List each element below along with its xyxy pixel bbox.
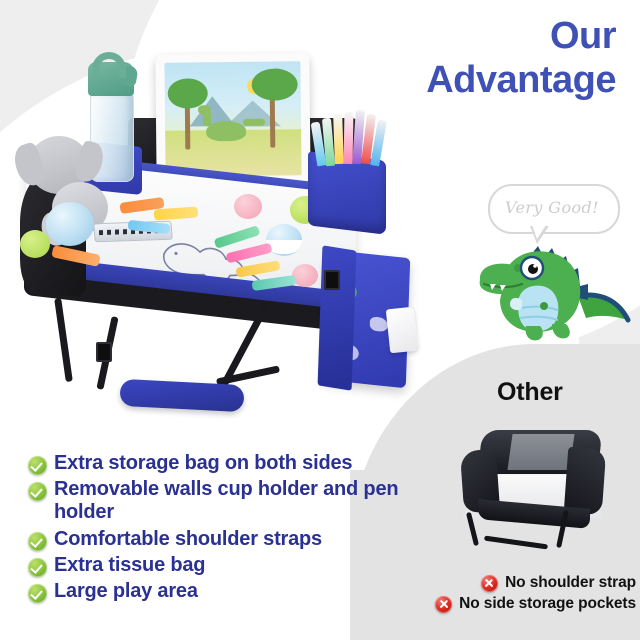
list-item: No shoulder strap (408, 574, 636, 592)
title-line-1: Our (426, 14, 616, 58)
toy-spiky-green (20, 230, 50, 258)
list-item: Extra tissue bag (28, 554, 400, 577)
red-x-icon (481, 575, 498, 592)
artwork-trunk-right (269, 96, 275, 148)
side-bag-flap (318, 245, 357, 390)
toy-ball-blue (46, 202, 94, 246)
green-check-icon (28, 482, 47, 501)
green-check-icon (28, 558, 47, 577)
advantage-label: Extra tissue bag (54, 554, 205, 577)
advantage-label: Removable walls cup holder and pen holde… (54, 478, 400, 524)
other-product-photo (448, 424, 624, 564)
artwork-dino-head (197, 106, 210, 115)
other-section-title: Other (497, 378, 563, 407)
drawback-label: No side storage pockets (459, 595, 636, 613)
other-tray-inner-panel (507, 434, 574, 470)
infographic-canvas: Our Advantage (0, 0, 640, 640)
green-check-icon (28, 584, 47, 603)
list-item: Extra storage bag on both sides (28, 452, 400, 475)
dinosaur-mascot: Very Good! (474, 182, 640, 342)
list-item: Removable walls cup holder and pen holde… (28, 478, 400, 524)
tablet-screen (164, 61, 301, 176)
green-check-icon (28, 456, 47, 475)
title-line-2: Advantage (426, 58, 616, 102)
pen-3 (333, 114, 344, 164)
list-item: Large play area (28, 580, 400, 603)
green-check-icon (28, 532, 47, 551)
list-item: No side storage pockets (408, 595, 636, 613)
advantage-label: Large play area (54, 580, 198, 603)
product-photo-main (8, 26, 428, 426)
toy-pig-pink-2 (292, 264, 318, 287)
tablet-device (155, 53, 310, 185)
strap-bottom-right (216, 365, 280, 385)
artwork-dino-tail (243, 119, 265, 126)
other-tray-right-rim (564, 447, 607, 515)
toy-pig-pink (234, 194, 262, 219)
strap-buckle-left (96, 342, 112, 362)
advantage-list: Extra storage bag on both sides Removabl… (28, 452, 400, 606)
strap-buckle-right (324, 270, 340, 290)
other-strap-bottom (484, 536, 548, 550)
artwork-canopy-right (252, 68, 298, 100)
artwork-canopy-left (167, 78, 207, 108)
list-item: Comfortable shoulder straps (28, 528, 400, 551)
advantage-label: Comfortable shoulder straps (54, 528, 322, 551)
advantage-label: Extra storage bag on both sides (54, 452, 352, 475)
water-bottle-handle (92, 52, 126, 78)
dinosaur-icon (474, 234, 640, 344)
red-x-icon (435, 596, 452, 613)
cloud-print-1 (370, 316, 388, 332)
page-title: Our Advantage (426, 14, 616, 102)
tissue-paper (386, 307, 418, 354)
shoulder-strap-pad (119, 379, 244, 412)
other-drawback-list: No shoulder strap No side storage pocket… (408, 574, 636, 616)
speech-bubble-text: Very Good! (488, 184, 616, 230)
drawback-label: No shoulder strap (505, 574, 636, 592)
strap-left-vertical (54, 298, 73, 382)
artwork-dino-body (206, 121, 246, 141)
